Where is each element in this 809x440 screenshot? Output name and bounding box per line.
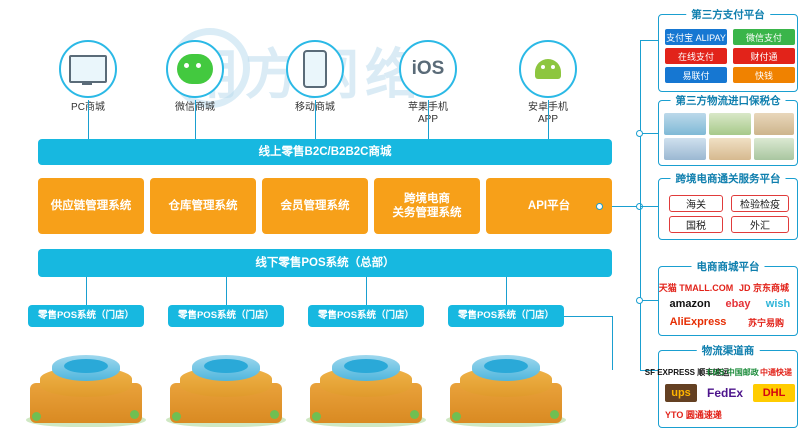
desktop-monitor-icon [69,55,107,83]
tree-icon [550,410,559,419]
logo-fedex[interactable]: FedEx [701,384,749,402]
bar-member-management[interactable]: 会员管理系统 [262,178,368,234]
logo-tenpay[interactable]: 财付通 [733,48,795,64]
warehouse-photo [754,113,794,135]
ios-icon: iOS [412,58,445,80]
logo-wish[interactable]: wish [761,297,795,311]
logo-ems[interactable]: EMS 中国邮政 [711,364,755,380]
connector [88,100,89,139]
logo-suning[interactable]: 苏宁易购 [737,314,795,330]
panel-title: 第三方支付平台 [686,7,770,22]
connector [612,316,613,370]
bar-label: 零售POS系统（门店） [178,309,274,323]
connector [226,277,227,305]
bar-label: 零售POS系统（门店） [458,309,554,323]
store-building-2 [166,335,286,427]
tree-icon [452,412,461,421]
android-icon [535,59,561,79]
store-building-1 [26,335,146,427]
panel-logistics-providers: 物流渠道商 SF EXPRESS 顺丰速运 EMS 中国邮政 中通快递 ups … [658,350,798,428]
rooftop-pool [204,359,248,373]
tree-icon [312,412,321,421]
bar-label-line2: 关务管理系统 [393,206,462,220]
rooftop-pool [484,359,528,373]
bar-api-platform[interactable]: API平台 [486,178,612,234]
panel-title: 电商商城平台 [692,259,765,274]
logo-jd[interactable]: JD 京东商城 [733,280,795,294]
logo-zto[interactable]: 中通快递 [757,364,795,380]
bubble [519,40,577,98]
panel-cross-border-customs-service: 跨境电商通关服务平台 海关 检验检疫 国税 外汇 [658,178,798,240]
bar-label: 线下零售POS系统（总部） [255,256,394,270]
warehouse-photo [709,138,751,160]
bar-label: 供应链管理系统 [51,199,132,213]
bar-cross-border-customs-management[interactable]: 跨境电商 关务管理系统 [374,178,480,234]
logo-sf-express[interactable]: SF EXPRESS 顺丰速运 [665,364,709,380]
warehouse-photo [664,113,706,135]
logo-yto[interactable]: YTO 圆通速递 [665,406,795,422]
connector [640,40,658,41]
box-forex[interactable]: 外汇 [731,216,789,233]
panel-ecommerce-platforms: 电商商城平台 天猫 TMALL.COM JD 京东商城 amazon ebay … [658,266,798,336]
connector [195,100,196,139]
panel-title: 第三方物流进口保税仓 [671,93,786,108]
bar-label: 仓库管理系统 [169,199,238,213]
connector [366,277,367,305]
rooftop-pool [344,359,388,373]
tree-icon [270,410,279,419]
mobile-phone-icon [303,50,327,88]
panel-third-party-payment: 第三方支付平台 支付宝 ALIPAY 微信支付 在线支付 财付通 易联付 快钱 [658,14,798,92]
bar-label: 零售POS系统（门店） [318,309,414,323]
connector [640,206,658,207]
bar-label: 零售POS系统（门店） [38,309,134,323]
store-building-4 [446,335,566,427]
warehouse-photo [754,138,794,160]
logo-kuaiqian[interactable]: 快钱 [733,67,795,83]
warehouse-photo [664,138,706,160]
right-bus-line [640,40,641,370]
logo-dhl[interactable]: DHL [753,384,795,402]
bar-warehouse-management[interactable]: 仓库管理系统 [150,178,256,234]
box-inspection[interactable]: 检验检疫 [731,195,789,212]
store-building-3 [306,335,426,427]
bar-label: 会员管理系统 [281,199,350,213]
connector [548,100,549,139]
connector [86,277,87,305]
logo-alipay[interactable]: 支付宝 ALIPAY [665,29,727,45]
logo-amazon[interactable]: amazon [665,297,715,311]
bar-store-pos-1[interactable]: 零售POS系统（门店） [28,305,144,327]
tree-icon [130,410,139,419]
warehouse-photo [709,113,751,135]
logo-ebay[interactable]: ebay [719,297,757,311]
bar-online-mall[interactable]: 线上零售B2C/B2B2C商城 [38,139,612,165]
bar-offline-pos-hq[interactable]: 线下零售POS系统（总部） [38,249,612,277]
panel-bonded-warehouse: 第三方物流进口保税仓 [658,100,798,166]
panel-title: 物流渠道商 [697,343,760,358]
bubble [286,40,344,98]
box-tax[interactable]: 国税 [669,216,723,233]
diagram-canvas: 用方网络 PC商城 微信商城 移动商城 iOS 苹果手机 APP 安卓手机 AP… [0,0,809,440]
connector [564,316,612,317]
logo-yeepay[interactable]: 易联付 [665,67,727,83]
wechat-icon [177,54,213,84]
logo-wechat-pay[interactable]: 微信支付 [733,29,795,45]
bar-supply-chain-management[interactable]: 供应链管理系统 [38,178,144,234]
bar-store-pos-3[interactable]: 零售POS系统（门店） [308,305,424,327]
rooftop-pool [64,359,108,373]
tree-icon [172,412,181,421]
connector [506,277,507,305]
logo-unionpay-online[interactable]: 在线支付 [665,48,727,64]
bar-label: 线上零售B2C/B2B2C商城 [259,145,392,159]
logo-ups[interactable]: ups [665,384,697,402]
tree-icon [32,412,41,421]
bar-store-pos-4[interactable]: 零售POS系统（门店） [448,305,564,327]
bar-label-line1: 跨境电商 [404,192,450,206]
bar-store-pos-2[interactable]: 零售POS系统（门店） [168,305,284,327]
bubble [59,40,117,98]
panel-title: 跨境电商通关服务平台 [671,171,786,186]
bubble [166,40,224,98]
bubble: iOS [399,40,457,98]
connector-node [636,297,643,304]
connector-node [596,203,603,210]
box-customs[interactable]: 海关 [669,195,723,212]
logo-tmall[interactable]: 天猫 TMALL.COM [665,280,727,294]
logo-aliexpress[interactable]: AliExpress [665,314,731,330]
connector-node [636,130,643,137]
tree-icon [410,410,419,419]
connector [428,100,429,139]
connector [315,100,316,139]
bar-label: API平台 [528,199,570,213]
